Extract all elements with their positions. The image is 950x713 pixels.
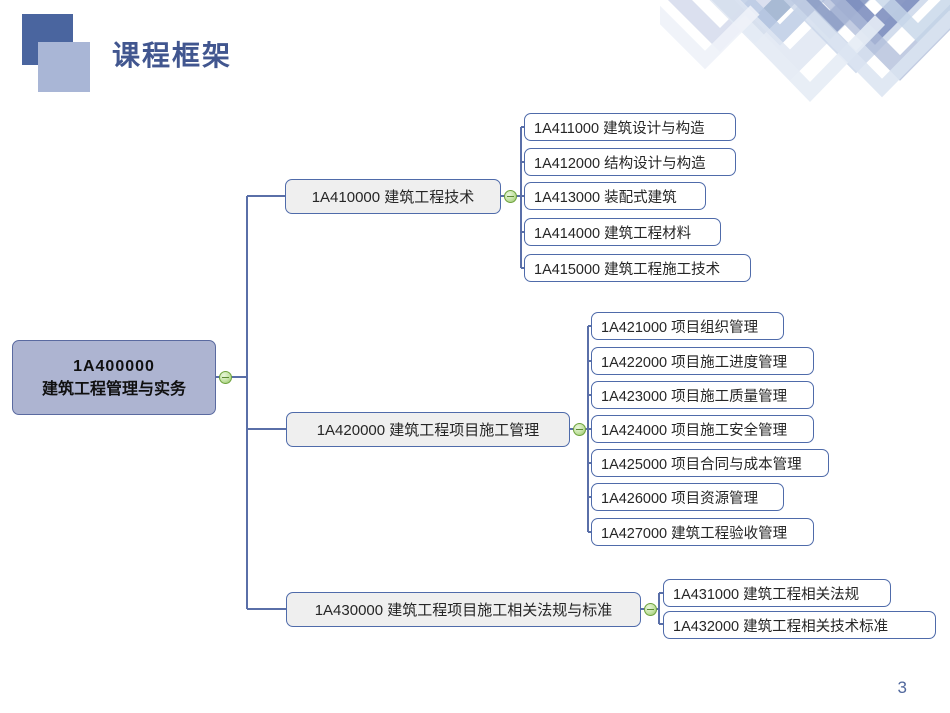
mindmap: 1A400000 建筑工程管理与实务 1A410000 建筑工程技术 1A411… xyxy=(0,0,950,713)
mindmap-branch-node-3[interactable]: 1A430000 建筑工程项目施工相关法规与标准 xyxy=(286,592,641,627)
leaf-label: 1A422000 项目施工进度管理 xyxy=(601,351,787,372)
mindmap-leaf-node[interactable]: 1A425000 项目合同与成本管理 xyxy=(591,449,829,477)
leaf-label: 1A426000 项目资源管理 xyxy=(601,487,758,508)
leaf-label: 1A414000 建筑工程材料 xyxy=(534,222,691,243)
mindmap-leaf-node[interactable]: 1A427000 建筑工程验收管理 xyxy=(591,518,814,546)
leaf-label: 1A415000 建筑工程施工技术 xyxy=(534,258,720,279)
leaf-label: 1A412000 结构设计与构造 xyxy=(534,152,706,173)
leaf-label: 1A431000 建筑工程相关法规 xyxy=(673,583,859,604)
root-name: 建筑工程管理与实务 xyxy=(42,378,186,401)
leaf-label: 1A423000 项目施工质量管理 xyxy=(601,385,787,406)
leaf-label: 1A421000 项目组织管理 xyxy=(601,316,758,337)
mindmap-leaf-node[interactable]: 1A432000 建筑工程相关技术标准 xyxy=(663,611,936,639)
branch-3-collapse-toggle-icon[interactable] xyxy=(644,603,657,616)
mindmap-branch-node-2[interactable]: 1A420000 建筑工程项目施工管理 xyxy=(286,412,570,447)
mindmap-leaf-node[interactable]: 1A424000 项目施工安全管理 xyxy=(591,415,814,443)
leaf-label: 1A432000 建筑工程相关技术标准 xyxy=(673,615,888,636)
branch-2-label: 1A420000 建筑工程项目施工管理 xyxy=(317,419,540,440)
mindmap-branch-node-1[interactable]: 1A410000 建筑工程技术 xyxy=(285,179,501,214)
mindmap-leaf-node[interactable]: 1A411000 建筑设计与构造 xyxy=(524,113,736,141)
leaf-label: 1A411000 建筑设计与构造 xyxy=(534,117,705,138)
root-collapse-toggle-icon[interactable] xyxy=(219,371,232,384)
page-number: 3 xyxy=(898,678,907,698)
mindmap-leaf-node[interactable]: 1A431000 建筑工程相关法规 xyxy=(663,579,891,607)
slide-canvas: 课程框架 xyxy=(0,0,950,713)
branch-2-collapse-toggle-icon[interactable] xyxy=(573,423,586,436)
mindmap-leaf-node[interactable]: 1A423000 项目施工质量管理 xyxy=(591,381,814,409)
leaf-label: 1A427000 建筑工程验收管理 xyxy=(601,522,787,543)
branch-1-collapse-toggle-icon[interactable] xyxy=(504,190,517,203)
leaf-label: 1A413000 装配式建筑 xyxy=(534,186,677,207)
mindmap-leaf-node[interactable]: 1A412000 结构设计与构造 xyxy=(524,148,736,176)
branch-1-label: 1A410000 建筑工程技术 xyxy=(312,186,475,207)
mindmap-leaf-node[interactable]: 1A422000 项目施工进度管理 xyxy=(591,347,814,375)
leaf-label: 1A424000 项目施工安全管理 xyxy=(601,419,787,440)
mindmap-leaf-node[interactable]: 1A414000 建筑工程材料 xyxy=(524,218,721,246)
mindmap-root-node[interactable]: 1A400000 建筑工程管理与实务 xyxy=(12,340,216,415)
branch-3-label: 1A430000 建筑工程项目施工相关法规与标准 xyxy=(315,599,613,620)
mindmap-leaf-node[interactable]: 1A421000 项目组织管理 xyxy=(591,312,784,340)
mindmap-leaf-node[interactable]: 1A413000 装配式建筑 xyxy=(524,182,706,210)
root-code: 1A400000 xyxy=(73,355,155,378)
leaf-label: 1A425000 项目合同与成本管理 xyxy=(601,453,802,474)
mindmap-leaf-node[interactable]: 1A426000 项目资源管理 xyxy=(591,483,784,511)
mindmap-leaf-node[interactable]: 1A415000 建筑工程施工技术 xyxy=(524,254,751,282)
